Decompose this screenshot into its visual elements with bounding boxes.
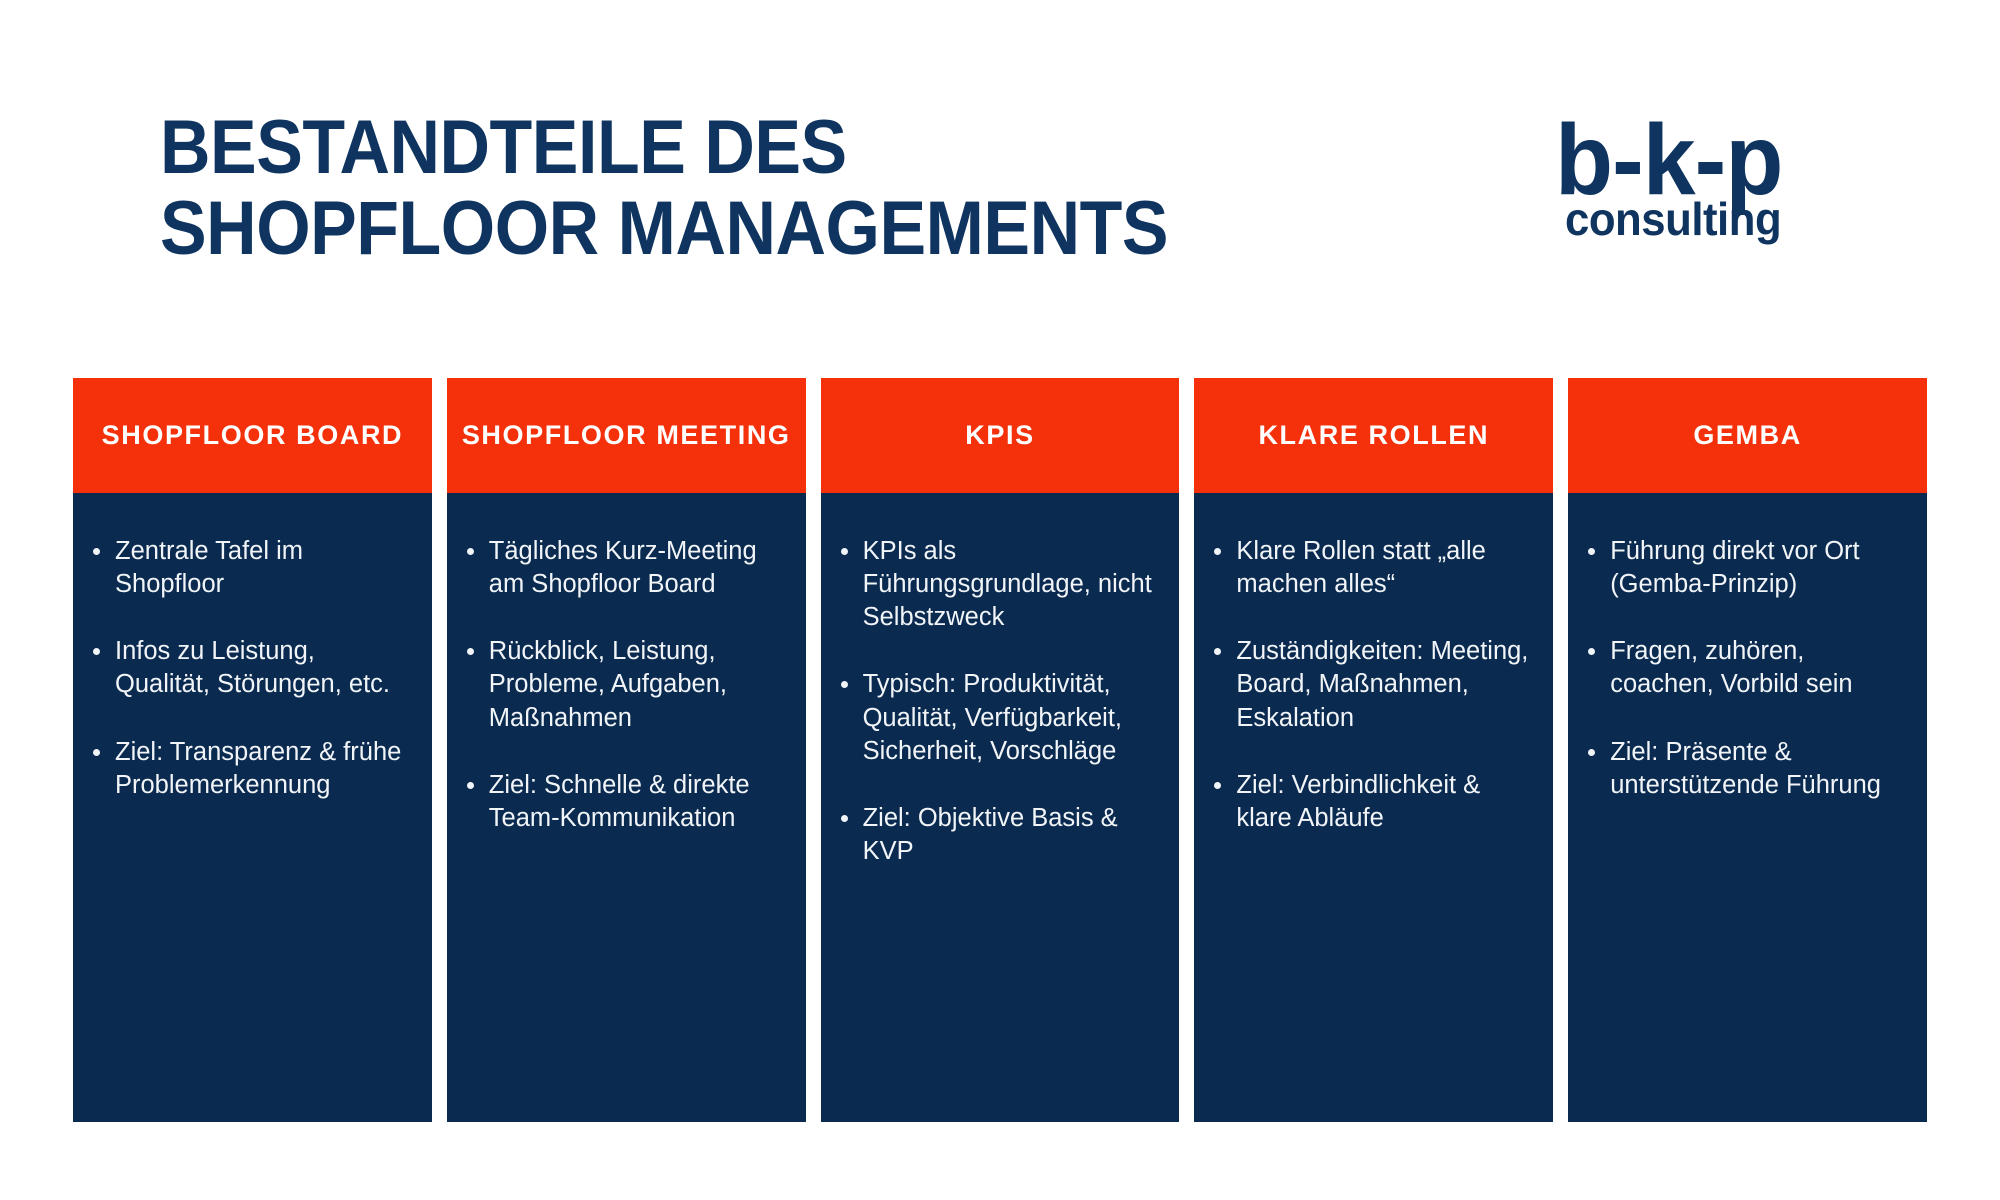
column-header-label: Klare Rollen	[1258, 420, 1489, 451]
list-item: Zentrale Tafel im Shopfloor	[87, 535, 414, 601]
column-header-klare-rollen: Klare Rollen	[1194, 378, 1553, 493]
list-item: Führung direkt vor Ort (Gemba-Prinzip)	[1582, 535, 1909, 601]
column-header-label: Shopfloor Board	[102, 420, 404, 451]
column-body-gemba: Führung direkt vor Ort (Gemba-Prinzip) F…	[1568, 493, 1927, 1122]
column-header-gemba: Gemba	[1568, 378, 1927, 493]
list-item: Klare Rollen statt „alle machen alles“	[1208, 535, 1535, 601]
bullet-list: Führung direkt vor Ort (Gemba-Prinzip) F…	[1582, 535, 1909, 802]
column-header-kpis: KPIs	[821, 378, 1180, 493]
brand-logo: b-k-p consulting	[1555, 110, 1875, 270]
column-body-klare-rollen: Klare Rollen statt „alle machen alles“ Z…	[1194, 493, 1553, 1122]
list-item: Ziel: Objektive Basis & KVP	[835, 802, 1162, 868]
list-item: Tägliches Kurz-Meeting am Shopfloor Boar…	[461, 535, 788, 601]
column-body-shopfloor-meeting: Tägliches Kurz-Meeting am Shopfloor Boar…	[447, 493, 806, 1122]
bullet-list: Tägliches Kurz-Meeting am Shopfloor Boar…	[461, 535, 788, 835]
column-klare-rollen: Klare Rollen Klare Rollen statt „alle ma…	[1194, 378, 1553, 1122]
list-item: Typisch: Produktivität, Qualität, Verfüg…	[835, 668, 1162, 767]
list-item: Ziel: Transparenz & frühe Problemerkennu…	[87, 736, 414, 802]
column-header-label: Shopfloor Meeting	[462, 420, 791, 451]
page-title: Bestandteile des Shopfloor Managements	[160, 108, 1347, 269]
brand-logo-tagline: consulting	[1565, 196, 1781, 242]
bullet-list: Klare Rollen statt „alle machen alles“ Z…	[1208, 535, 1535, 835]
column-header-label: KPIs	[965, 420, 1034, 451]
list-item: Ziel: Schnelle & direkte Team-Kommunikat…	[461, 769, 788, 835]
column-header-shopfloor-meeting: Shopfloor Meeting	[447, 378, 806, 493]
list-item: KPIs als Führungsgrundlage, nicht Selbst…	[835, 535, 1162, 634]
list-item: Ziel: Verbindlichkeit & klare Abläufe	[1208, 769, 1535, 835]
list-item: Infos zu Leistung, Qualität, Störungen, …	[87, 635, 414, 701]
column-body-kpis: KPIs als Führungsgrundlage, nicht Selbst…	[821, 493, 1180, 1122]
page-title-line-1: Bestandteile des	[160, 108, 1347, 189]
column-header-label: Gemba	[1693, 420, 1802, 451]
column-body-shopfloor-board: Zentrale Tafel im Shopfloor Infos zu Lei…	[73, 493, 432, 1122]
page-title-line-2: Shopfloor Managements	[160, 189, 1347, 270]
list-item: Zuständigkeiten: Meeting, Board, Maßnahm…	[1208, 635, 1535, 734]
column-shopfloor-meeting: Shopfloor Meeting Tägliches Kurz-Meeting…	[447, 378, 806, 1122]
slide-header: Bestandteile des Shopfloor Managements b…	[0, 0, 2000, 360]
bullet-list: KPIs als Führungsgrundlage, nicht Selbst…	[835, 535, 1162, 868]
column-shopfloor-board: Shopfloor Board Zentrale Tafel im Shopfl…	[73, 378, 432, 1122]
list-item: Rückblick, Leistung, Probleme, Aufgaben,…	[461, 635, 788, 734]
list-item: Ziel: Präsente & unterstützende Führung	[1582, 736, 1909, 802]
component-columns: Shopfloor Board Zentrale Tafel im Shopfl…	[73, 378, 1927, 1122]
bullet-list: Zentrale Tafel im Shopfloor Infos zu Lei…	[87, 535, 414, 802]
column-gemba: Gemba Führung direkt vor Ort (Gemba-Prin…	[1568, 378, 1927, 1122]
list-item: Fragen, zuhören, coachen, Vorbild sein	[1582, 635, 1909, 701]
column-kpis: KPIs KPIs als Führungsgrundlage, nicht S…	[821, 378, 1180, 1122]
column-header-shopfloor-board: Shopfloor Board	[73, 378, 432, 493]
slide-root: Bestandteile des Shopfloor Managements b…	[0, 0, 2000, 1200]
